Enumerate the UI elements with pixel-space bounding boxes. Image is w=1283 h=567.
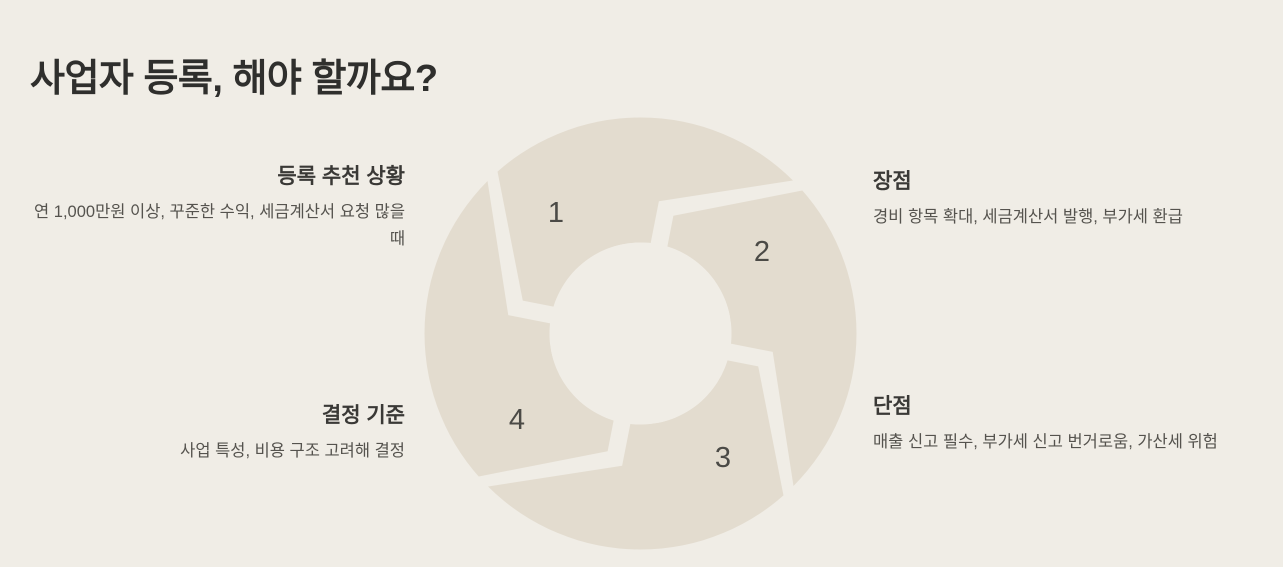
label-title-3: 단점 — [873, 393, 1245, 420]
label-desc-4: 사업 특성, 비용 구조 고려해 결정 — [60, 438, 405, 465]
label-block-4: 결정 기준 사업 특성, 비용 구조 고려해 결정 — [60, 402, 405, 465]
label-block-3: 단점 매출 신고 필수, 부가세 신고 번거로움, 가산세 위험 — [873, 393, 1245, 456]
cycle-diagram: 1 2 3 4 등록 추천 상황 연 1,000만원 이상, 꾸준한 수익, 세… — [0, 0, 1283, 567]
segment-number-1: 1 — [548, 197, 564, 229]
segment-number-2: 2 — [754, 236, 770, 268]
label-block-1: 등록 추천 상황 연 1,000만원 이상, 꾸준한 수익, 세금계산서 요청 … — [28, 163, 405, 253]
label-title-4: 결정 기준 — [60, 402, 405, 429]
segment-number-3: 3 — [715, 442, 731, 474]
label-title-1: 등록 추천 상황 — [28, 163, 405, 190]
label-title-2: 장점 — [873, 168, 1263, 195]
infographic-page: 사업자 등록, 해야 할까요? 1 2 3 4 — [0, 0, 1283, 567]
label-desc-3: 매출 신고 필수, 부가세 신고 번거로움, 가산세 위험 — [873, 429, 1245, 456]
donut-center-fill — [550, 243, 732, 425]
label-block-2: 장점 경비 항목 확대, 세금계산서 발행, 부가세 환급 — [873, 168, 1263, 231]
segment-number-4: 4 — [509, 404, 525, 436]
label-desc-1: 연 1,000만원 이상, 꾸준한 수익, 세금계산서 요청 많을 때 — [28, 199, 405, 252]
label-desc-2: 경비 항목 확대, 세금계산서 발행, 부가세 환급 — [873, 204, 1263, 231]
donut-chart-svg: 1 2 3 4 — [424, 117, 857, 550]
